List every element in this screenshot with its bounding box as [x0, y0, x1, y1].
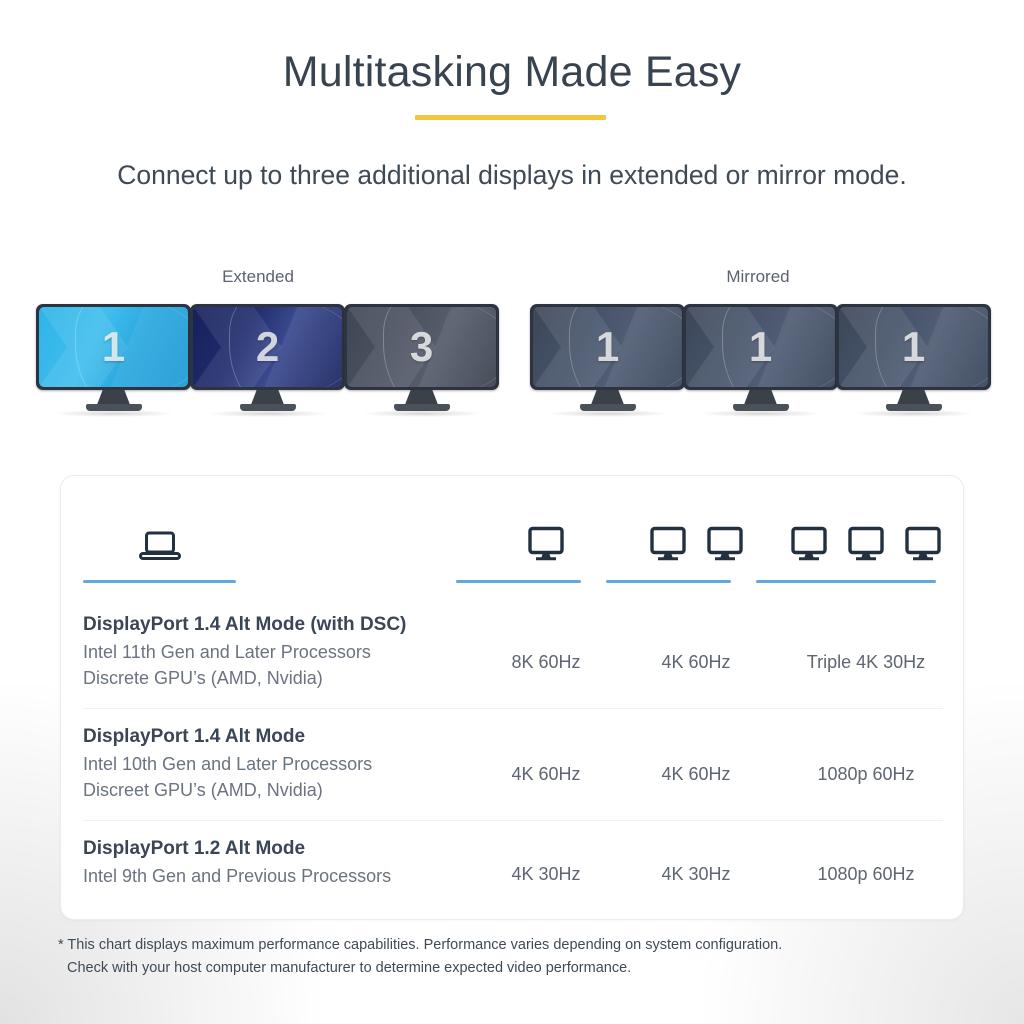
column-header-laptop	[83, 520, 237, 568]
monitor-bezel: 2	[190, 304, 345, 390]
monitor-number: 1	[686, 323, 835, 371]
row-label: DisplayPort 1.2 Alt Mode Intel 9th Gen a…	[83, 836, 483, 889]
monitor-shadow	[548, 410, 668, 417]
row-subtitle-1: Intel 11th Gen and Later Processors	[83, 639, 483, 665]
laptop-icon	[137, 529, 183, 568]
footnote: * This chart displays maximum performanc…	[58, 934, 988, 981]
row-title: DisplayPort 1.4 Alt Mode (with DSC)	[83, 612, 483, 639]
row-value-three-displays: 1080p 60Hz	[751, 864, 981, 885]
monitor-bezel: 1	[683, 304, 838, 390]
monitor-screen: 3	[347, 307, 496, 387]
monitor-mirrored-3: 1	[836, 304, 991, 390]
column-header-three-displays	[751, 520, 981, 568]
row-value-three-displays: 1080p 60Hz	[751, 764, 981, 785]
monitor-icon	[524, 525, 568, 568]
spec-table: DisplayPort 1.4 Alt Mode (with DSC) Inte…	[61, 596, 965, 920]
monitor-number: 3	[347, 323, 496, 371]
monitor-icon	[787, 525, 831, 568]
monitor-mirrored-1: 1	[530, 304, 685, 390]
row-subtitle-2: Discreet GPU’s (AMD, Nvidia)	[83, 777, 483, 803]
column-rule-laptop	[83, 580, 236, 583]
monitor-shadow	[208, 410, 328, 417]
monitor-mirrored-2: 1	[683, 304, 838, 390]
row-label: DisplayPort 1.4 Alt Mode Intel 10th Gen …	[83, 724, 483, 803]
monitor-bezel: 3	[344, 304, 499, 390]
monitor-number: 1	[533, 323, 682, 371]
monitor-icon	[844, 525, 888, 568]
monitor-number: 1	[839, 323, 988, 371]
monitor-shadow	[362, 410, 482, 417]
monitor-shadow	[854, 410, 974, 417]
row-label: DisplayPort 1.4 Alt Mode (with DSC) Inte…	[83, 612, 483, 691]
page-root: Multitasking Made Easy Connect up to thr…	[0, 0, 1024, 1024]
table-row: DisplayPort 1.2 Alt Mode Intel 9th Gen a…	[61, 820, 965, 920]
row-title: DisplayPort 1.2 Alt Mode	[83, 836, 483, 863]
monitor-extended-3: 3	[344, 304, 499, 390]
table-row: DisplayPort 1.4 Alt Mode Intel 10th Gen …	[61, 708, 965, 820]
table-row: DisplayPort 1.4 Alt Mode (with DSC) Inte…	[61, 596, 965, 708]
page-subtitle: Connect up to three additional displays …	[0, 160, 1024, 191]
page-title: Multitasking Made Easy	[0, 48, 1024, 97]
group-label-mirrored: Mirrored	[668, 267, 848, 287]
monitor-extended-2: 2	[190, 304, 345, 390]
comparison-card: DisplayPort 1.4 Alt Mode (with DSC) Inte…	[60, 475, 964, 920]
monitor-bezel: 1	[836, 304, 991, 390]
column-rule-two-displays	[606, 580, 731, 583]
monitor-icon	[703, 525, 747, 568]
monitor-number: 1	[39, 323, 188, 371]
row-value-three-displays: Triple 4K 30Hz	[751, 652, 981, 673]
monitor-extended-1: 1	[36, 304, 191, 390]
group-label-extended: Extended	[168, 267, 348, 287]
monitor-number: 2	[193, 323, 342, 371]
column-rule-one-display	[456, 580, 581, 583]
monitor-icon	[646, 525, 690, 568]
monitor-shadow	[701, 410, 821, 417]
footnote-line-2: Check with your host computer manufactur…	[58, 957, 988, 980]
monitor-screen: 1	[533, 307, 682, 387]
laptop-icon-group	[83, 520, 237, 568]
monitor-screen: 1	[839, 307, 988, 387]
row-subtitle-1: Intel 10th Gen and Later Processors	[83, 751, 483, 777]
monitor-shadow	[54, 410, 174, 417]
row-subtitle-1: Intel 9th Gen and Previous Processors	[83, 863, 483, 889]
monitor-bezel: 1	[530, 304, 685, 390]
footnote-line-1: * This chart displays maximum performanc…	[58, 937, 782, 953]
monitor-icon	[901, 525, 945, 568]
title-accent-rule	[415, 115, 606, 120]
monitor-bezel: 1	[36, 304, 191, 390]
monitor-screen: 1	[686, 307, 835, 387]
row-subtitle-2: Discrete GPU’s (AMD, Nvidia)	[83, 665, 483, 691]
monitor-icon-group-3	[751, 520, 981, 568]
row-title: DisplayPort 1.4 Alt Mode	[83, 724, 483, 751]
column-rule-three-displays	[756, 580, 936, 583]
monitor-screen: 1	[39, 307, 188, 387]
monitor-screen: 2	[193, 307, 342, 387]
